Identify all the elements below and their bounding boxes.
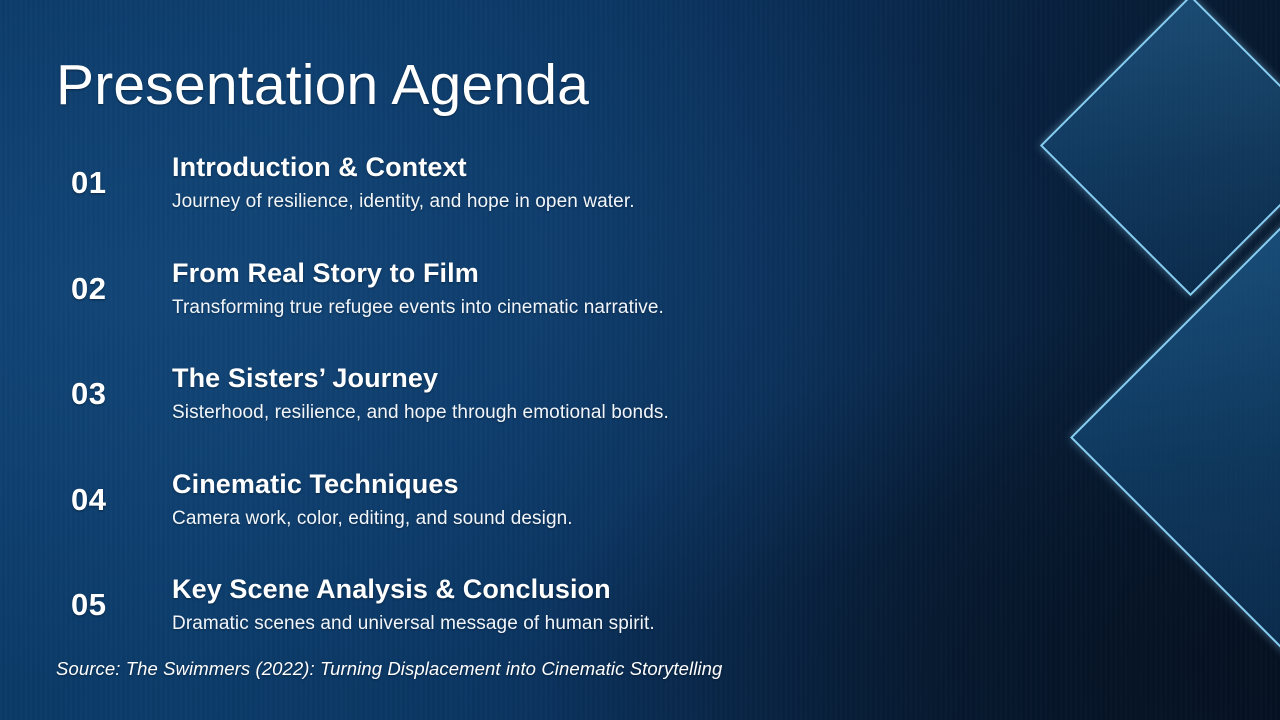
page-title: Presentation Agenda bbox=[56, 56, 589, 116]
agenda-item-number: 03 bbox=[71, 376, 106, 412]
agenda-item-number: 01 bbox=[71, 165, 106, 201]
agenda-item-heading: The Sisters’ Journey bbox=[172, 363, 860, 394]
agenda-slide: Presentation Agenda 01 Introduction & Co… bbox=[0, 0, 1280, 720]
slide-content: Presentation Agenda 01 Introduction & Co… bbox=[0, 0, 1280, 720]
agenda-item-number: 02 bbox=[71, 271, 106, 307]
agenda-item-body: From Real Story to Film Transforming tru… bbox=[172, 258, 860, 320]
agenda-item-number: 04 bbox=[71, 482, 106, 518]
agenda-item-description: Dramatic scenes and universal message of… bbox=[172, 613, 860, 636]
agenda-item-body: Key Scene Analysis & Conclusion Dramatic… bbox=[172, 574, 860, 636]
agenda-item-description: Journey of resilience, identity, and hop… bbox=[172, 191, 860, 214]
agenda-item-heading: Key Scene Analysis & Conclusion bbox=[172, 574, 860, 605]
agenda-list: 01 Introduction & Context Journey of res… bbox=[0, 152, 860, 680]
agenda-item-04: 04 Cinematic Techniques Camera work, col… bbox=[0, 469, 860, 575]
agenda-item-description: Sisterhood, resilience, and hope through… bbox=[172, 402, 860, 425]
agenda-item-01: 01 Introduction & Context Journey of res… bbox=[0, 152, 860, 258]
agenda-item-description: Camera work, color, editing, and sound d… bbox=[172, 508, 860, 531]
agenda-item-body: Cinematic Techniques Camera work, color,… bbox=[172, 469, 860, 531]
agenda-item-number: 05 bbox=[71, 587, 106, 623]
agenda-item-body: The Sisters’ Journey Sisterhood, resilie… bbox=[172, 363, 860, 425]
agenda-item-heading: From Real Story to Film bbox=[172, 258, 860, 289]
agenda-item-description: Transforming true refugee events into ci… bbox=[172, 297, 860, 320]
agenda-item-body: Introduction & Context Journey of resili… bbox=[172, 152, 860, 214]
agenda-item-02: 02 From Real Story to Film Transforming … bbox=[0, 258, 860, 364]
source-note: Source: The Swimmers (2022): Turning Dis… bbox=[56, 658, 722, 680]
agenda-item-heading: Introduction & Context bbox=[172, 152, 860, 183]
agenda-item-03: 03 The Sisters’ Journey Sisterhood, resi… bbox=[0, 363, 860, 469]
agenda-item-heading: Cinematic Techniques bbox=[172, 469, 860, 500]
